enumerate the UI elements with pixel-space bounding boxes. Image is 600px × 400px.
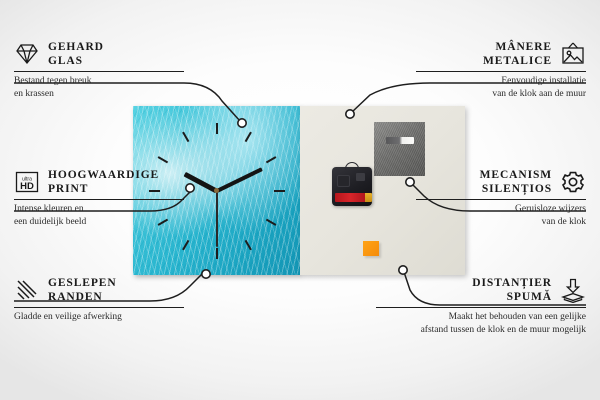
diamond-icon — [14, 41, 40, 67]
callout-header: GESLEPEN RANDEN — [14, 276, 184, 304]
callout-description: Eenvoudige installatie van de klok aan d… — [416, 75, 586, 100]
callout-divider — [416, 71, 586, 72]
ultra-hd-icon-bottom-label: HD — [20, 181, 34, 192]
callout-divider — [376, 307, 586, 308]
callout-divider — [416, 199, 586, 200]
foam-spacer-part — [363, 241, 379, 256]
callout-tempered-glass: GEHARD GLAS Bestand tegen breuk en krass… — [14, 40, 184, 100]
callout-title: MECANISM SILENȚIOS — [480, 168, 552, 196]
callout-metal-handles: MÂNERE METALICE Eenvoudige installatie v… — [416, 40, 586, 100]
callout-title: MÂNERE METALICE — [483, 40, 552, 68]
arrow-down-layers-icon — [560, 277, 586, 303]
picture-frame-hook-icon — [560, 41, 586, 67]
callout-silent-mechanism: MECANISM SILENȚIOS Geruisloze wijzers va… — [416, 168, 586, 228]
callout-title: DISTANȚIER SPUMĂ — [472, 276, 552, 304]
callout-title: GEHARD GLAS — [48, 40, 104, 68]
callout-header: ultra HD HOOGWAARDIGE PRINT — [14, 168, 184, 196]
callout-description: Geruisloze wijzers van de klok — [416, 203, 586, 228]
mechanism-button — [356, 173, 365, 181]
gear-icon — [560, 169, 586, 195]
callout-title: GESLEPEN RANDEN — [48, 276, 117, 304]
battery — [335, 193, 369, 202]
quartz-mechanism — [332, 167, 372, 206]
callout-divider — [14, 199, 184, 200]
callout-header: GEHARD GLAS — [14, 40, 184, 68]
callout-header: DISTANȚIER SPUMĂ — [376, 276, 586, 304]
callout-description: Intense kleuren en een duidelijk beeld — [14, 203, 184, 228]
diagonal-lines-icon — [14, 277, 40, 303]
callout-description: Gladde en veilige afwerking — [14, 311, 184, 324]
callout-foam-spacer: DISTANȚIER SPUMĂ Maakt het behouden van … — [376, 276, 586, 336]
callout-hd-print: ultra HD HOOGWAARDIGE PRINT Intense kleu… — [14, 168, 184, 228]
callout-header: MÂNERE METALICE — [416, 40, 586, 68]
product-infographic: GEHARD GLAS Bestand tegen breuk en krass… — [0, 0, 600, 400]
ultra-hd-icon: ultra HD — [14, 169, 40, 195]
clock-center-cap — [214, 188, 219, 193]
mechanism-hanger-loop — [345, 162, 359, 170]
callout-description: Maakt het behouden van een gelijke afsta… — [376, 311, 586, 336]
callout-divider — [14, 71, 184, 72]
callout-divider — [14, 307, 184, 308]
callout-ground-edges: GESLEPEN RANDEN Gladde en veilige afwerk… — [14, 276, 184, 324]
hanger-slot — [386, 137, 414, 144]
callout-title: HOOGWAARDIGE PRINT — [48, 168, 159, 196]
battery-terminal — [365, 193, 372, 202]
clock-second-hand — [216, 191, 218, 247]
callout-header: MECANISM SILENȚIOS — [416, 168, 586, 196]
mechanism-dial — [337, 175, 350, 187]
callout-description: Bestand tegen breuk en krassen — [14, 75, 184, 100]
